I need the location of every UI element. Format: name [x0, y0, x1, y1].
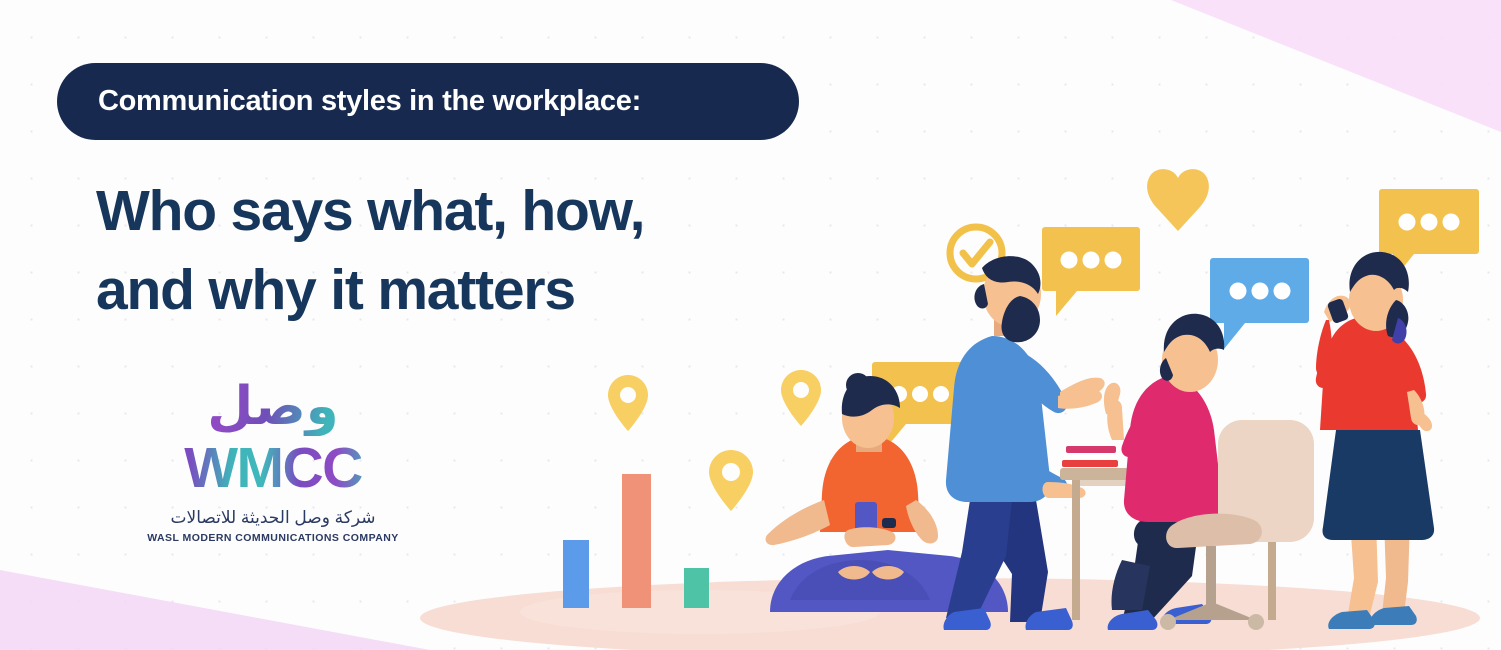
map-pin-icon-1	[608, 375, 648, 431]
logo-arabic-wordmark: وصل	[143, 378, 403, 436]
person-standing-speaking	[943, 256, 1118, 630]
headline-line-2: and why it matters	[96, 251, 796, 330]
person-seated-desk	[1104, 314, 1314, 630]
bar-2	[622, 474, 651, 608]
eyebrow-pill: Communication styles in the workplace:	[57, 63, 799, 140]
logo-latin-wordmark: WMCC	[143, 438, 403, 498]
promo-banner: Communication styles in the workplace: W…	[0, 0, 1501, 650]
page-title: Who says what, how, and why it matters	[96, 172, 796, 330]
heart-icon	[1147, 169, 1209, 231]
bar-chart	[563, 474, 709, 608]
speech-bubble-yellow-upper	[1042, 227, 1140, 316]
bar-1	[563, 540, 589, 608]
map-pin-icon-2	[709, 450, 753, 511]
speech-bubble-blue	[1210, 258, 1309, 349]
eyebrow-text: Communication styles in the workplace:	[98, 85, 641, 118]
bar-3	[684, 568, 709, 608]
headline-line-1: Who says what, how,	[96, 172, 796, 251]
map-pin-icon-3	[781, 370, 821, 426]
wmcc-logo: وصل WMCC شركة وصل الحديثة للاتصالات WASL…	[143, 378, 403, 544]
logo-english-company-name: WASL MODERN COMMUNICATIONS COMPANY	[143, 532, 403, 544]
person-on-phone	[1316, 252, 1434, 629]
logo-arabic-company-name: شركة وصل الحديثة للاتصالات	[143, 508, 403, 528]
